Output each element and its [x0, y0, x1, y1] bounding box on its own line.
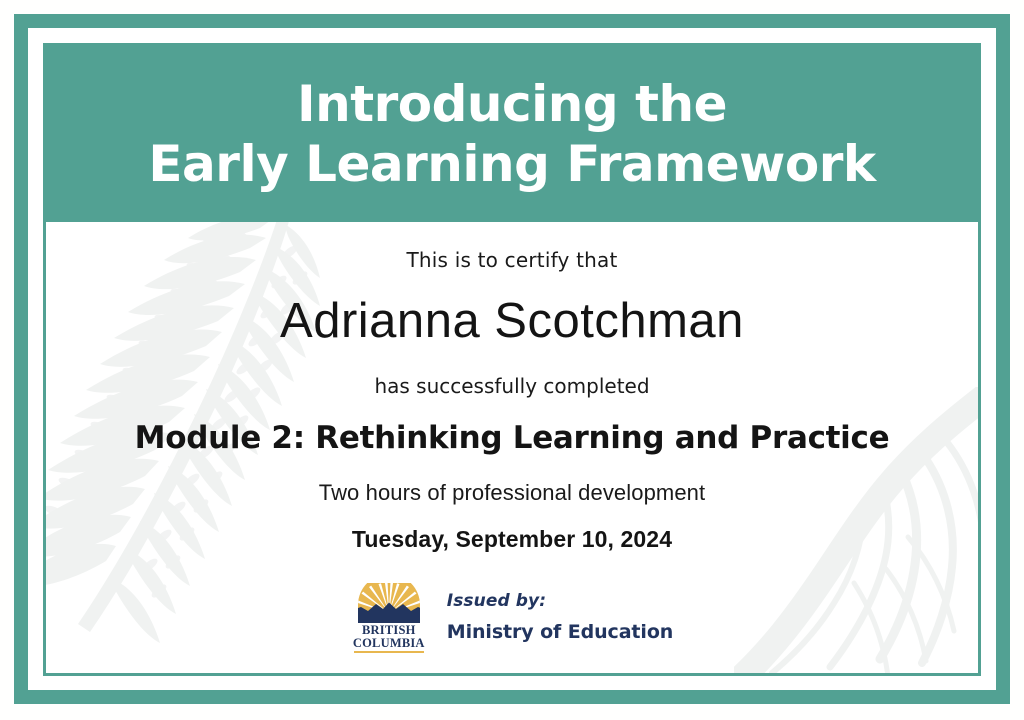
certificate-header-band: Introducing the Early Learning Framework [46, 46, 978, 222]
issuer-text-block: Issued by: Ministry of Education [447, 591, 673, 645]
bc-sun-mountain-icon [354, 583, 424, 623]
certificate-inner-border: Introducing the Early Learning Framework [43, 43, 981, 676]
certificate-page: Introducing the Early Learning Framework [0, 0, 1024, 720]
professional-development-hours: Two hours of professional development [319, 480, 705, 506]
completed-text: has successfully completed [374, 374, 649, 398]
certificate-body: This is to certify that Adrianna Scotchm… [46, 222, 978, 676]
module-title: Module 2: Rethinking Learning and Practi… [135, 420, 890, 456]
issued-by-label: Issued by: [447, 591, 546, 611]
issuer-name: Ministry of Education [447, 621, 673, 643]
bc-wordmark: BRITISH COLUMBIA [353, 624, 425, 649]
certificate-title-line-2: Early Learning Framework [148, 139, 875, 189]
completion-date: Tuesday, September 10, 2024 [352, 526, 672, 553]
bc-wordmark-line-2: COLUMBIA [353, 637, 425, 649]
certificate-content: This is to certify that Adrianna Scotchm… [46, 222, 978, 653]
issuer-block: BRITISH COLUMBIA Issued by: Ministry of … [351, 583, 673, 653]
bc-logo-gold-rule [354, 651, 424, 653]
bc-wordmark-line-1: BRITISH [362, 624, 416, 636]
certify-text: This is to certify that [406, 248, 617, 272]
british-columbia-logo: BRITISH COLUMBIA [351, 583, 427, 653]
recipient-name: Adrianna Scotchman [280, 296, 744, 347]
certificate-title-line-1: Introducing the [297, 79, 727, 129]
